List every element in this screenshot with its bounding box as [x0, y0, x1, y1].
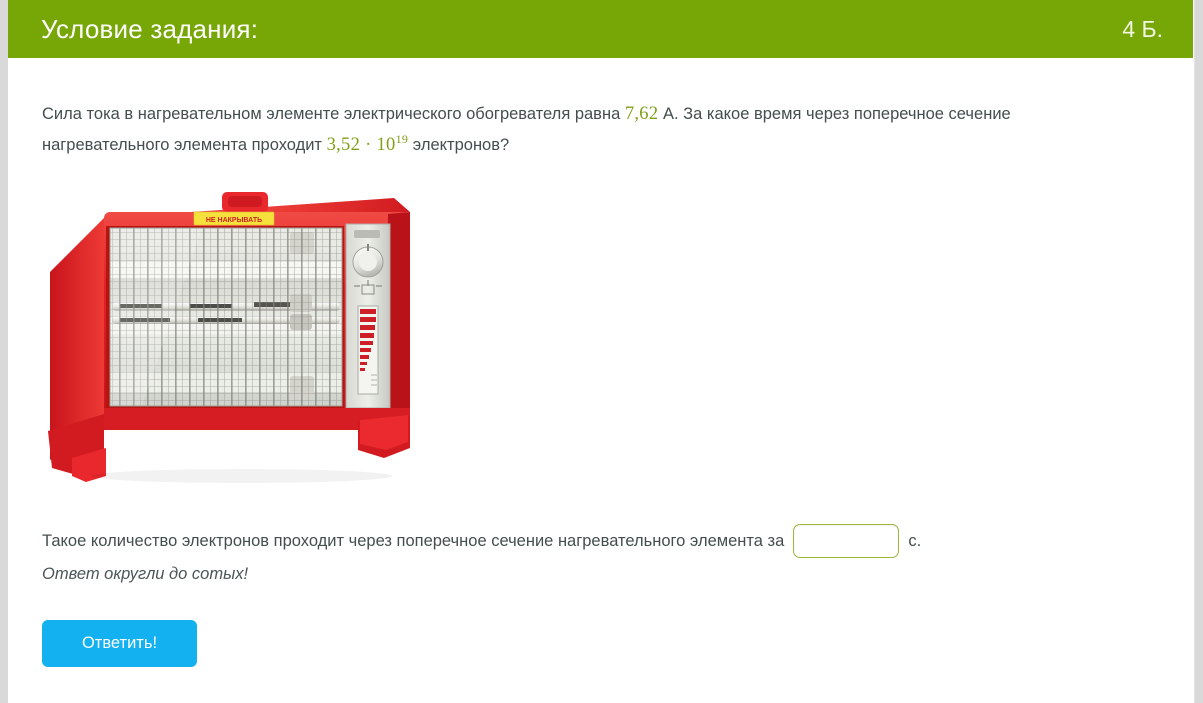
- page-title: Условие задания:: [41, 16, 258, 42]
- page-sheet: Условие задания: 4 Б. Сила тока в нагрев…: [8, 0, 1195, 703]
- current-value: 7,62: [625, 104, 659, 124]
- submit-answer-button[interactable]: Ответить!: [42, 620, 197, 667]
- task-body: Сила тока в нагревательном элементе элек…: [8, 58, 1193, 703]
- answer-row: Такое количество электронов проходит чер…: [42, 524, 1162, 558]
- electron-count-exponent: 19: [396, 132, 409, 146]
- answer-prefix-label: Такое количество электронов проходит чер…: [42, 528, 784, 554]
- page-background: Условие задания: 4 Б. Сила тока в нагрев…: [0, 0, 1203, 703]
- electron-count-base: 10: [376, 135, 395, 155]
- answer-hint: Ответ округли до сотых!: [42, 561, 248, 587]
- points-badge: 4 Б.: [1122, 18, 1163, 41]
- statement-text-part-1: Сила тока в нагревательном элементе элек…: [42, 105, 625, 123]
- statement-text-part-3: электронов?: [408, 136, 509, 154]
- warning-label-text: НЕ НАКРЫВАТЬ: [206, 217, 262, 224]
- answer-input[interactable]: [793, 524, 899, 558]
- current-value-number: 7,62: [625, 104, 659, 124]
- task-header-bar: Условие задания: 4 Б.: [8, 0, 1193, 58]
- electron-count-value: 3,52 · 1019: [327, 135, 409, 155]
- multiplication-dot: ·: [360, 135, 376, 155]
- electron-count-mantissa: 3,52: [327, 135, 361, 155]
- answer-unit-label: с.: [908, 528, 921, 554]
- task-statement: Сила тока в нагревательном элементе элек…: [42, 99, 1102, 161]
- warning-label-group: НЕ НАКРЫВАТЬ: [194, 212, 274, 225]
- heater-image: НЕ НАКРЫВАТЬ: [42, 176, 442, 496]
